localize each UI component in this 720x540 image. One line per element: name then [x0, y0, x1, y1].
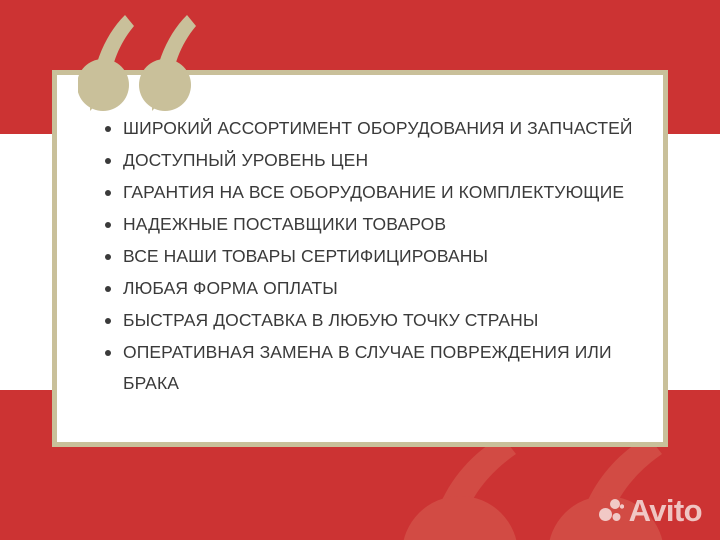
avito-dots-icon [599, 498, 624, 523]
avito-watermark: Avito [599, 495, 702, 526]
avito-wordmark: Avito [629, 495, 702, 526]
bullet-icon [105, 286, 111, 292]
list-item: ШИРОКИЙ АССОРТИМЕНТ ОБОРУДОВАНИЯ И ЗАПЧА… [105, 113, 635, 144]
list-item-label: ГАРАНТИЯ НА ВСЕ ОБОРУДОВАНИЕ И КОМПЛЕКТУ… [123, 182, 624, 202]
list-item: ОПЕРАТИВНАЯ ЗАМЕНА В СЛУЧАЕ ПОВРЕЖДЕНИЯ … [105, 337, 635, 399]
benefits-card: ШИРОКИЙ АССОРТИМЕНТ ОБОРУДОВАНИЯ И ЗАПЧА… [52, 70, 668, 447]
list-item: БЫСТРАЯ ДОСТАВКА В ЛЮБУЮ ТОЧКУ СТРАНЫ [105, 305, 635, 336]
bullet-icon [105, 126, 111, 132]
bullet-icon [105, 222, 111, 228]
list-item-label: ШИРОКИЙ АССОРТИМЕНТ ОБОРУДОВАНИЯ И ЗАПЧА… [123, 118, 633, 138]
list-item: ДОСТУПНЫЙ УРОВЕНЬ ЦЕН [105, 145, 635, 176]
bullet-icon [105, 190, 111, 196]
bullet-icon [105, 350, 111, 356]
list-item: НАДЕЖНЫЕ ПОСТАВЩИКИ ТОВАРОВ [105, 209, 635, 240]
list-item-label: ОПЕРАТИВНАЯ ЗАМЕНА В СЛУЧАЕ ПОВРЕЖДЕНИЯ … [123, 342, 612, 393]
slide-canvas: ШИРОКИЙ АССОРТИМЕНТ ОБОРУДОВАНИЯ И ЗАПЧА… [0, 0, 720, 540]
bullet-icon [105, 318, 111, 324]
benefits-list: ШИРОКИЙ АССОРТИМЕНТ ОБОРУДОВАНИЯ И ЗАПЧА… [105, 113, 635, 400]
list-item: ГАРАНТИЯ НА ВСЕ ОБОРУДОВАНИЕ И КОМПЛЕКТУ… [105, 177, 635, 208]
list-item-label: ВСЕ НАШИ ТОВАРЫ СЕРТИФИЦИРОВАНЫ [123, 246, 488, 266]
bullet-icon [105, 254, 111, 260]
list-item-label: ДОСТУПНЫЙ УРОВЕНЬ ЦЕН [123, 150, 368, 170]
list-item: ЛЮБАЯ ФОРМА ОПЛАТЫ [105, 273, 635, 304]
list-item: ВСЕ НАШИ ТОВАРЫ СЕРТИФИЦИРОВАНЫ [105, 241, 635, 272]
bullet-icon [105, 158, 111, 164]
list-item-label: ЛЮБАЯ ФОРМА ОПЛАТЫ [123, 278, 338, 298]
list-item-label: БЫСТРАЯ ДОСТАВКА В ЛЮБУЮ ТОЧКУ СТРАНЫ [123, 310, 538, 330]
list-item-label: НАДЕЖНЫЕ ПОСТАВЩИКИ ТОВАРОВ [123, 214, 446, 234]
